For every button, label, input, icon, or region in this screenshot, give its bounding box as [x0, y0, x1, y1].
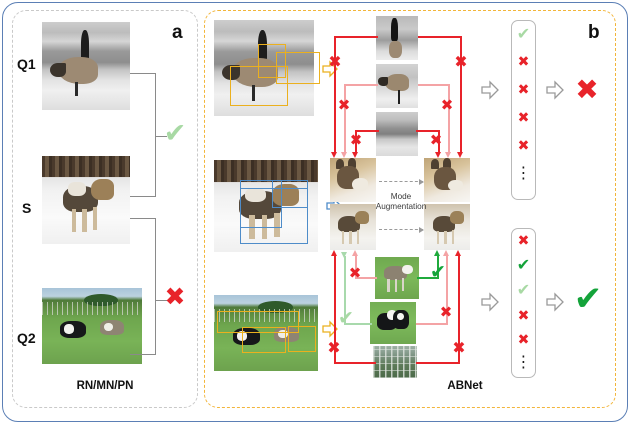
edge-sky-left-arrow: [352, 152, 358, 158]
match-check-bottom-1: ✔: [428, 263, 448, 282]
patch-sky-background: [376, 112, 418, 156]
decision-2-ellipsis: ⋮: [512, 355, 535, 371]
mode-augmentation-line-2: Augmentation: [368, 202, 434, 212]
match-check-bottom-2: ✔: [336, 309, 356, 328]
edge-head-left-arrow: [331, 152, 337, 158]
mode-augmentation-arrow-bottom: [379, 229, 423, 230]
decision-2-item-4: ✖: [512, 309, 535, 323]
row-label-q1: Q1: [17, 56, 36, 72]
decision-1-item-5: ✖: [512, 139, 535, 153]
arrow-list-1-to-result: [546, 80, 564, 100]
match-cross-bottom-4: ✖: [450, 340, 468, 356]
patch-goose-body: [376, 64, 418, 108]
edge-body-left-vert: [344, 84, 346, 154]
decision-2-item-3: ✔: [512, 282, 535, 298]
edge-head-right: [418, 36, 462, 38]
decision-1-ellipsis: ⋮: [512, 166, 535, 182]
arrow-to-list-1: [481, 80, 499, 100]
patch-black-white-dogs: [370, 302, 416, 344]
decision-1-item-2: ✖: [512, 55, 535, 69]
panel-b-source-q2: [214, 295, 318, 371]
match-cross-bottom-1: ✖: [346, 266, 364, 281]
edge-bwdog-right-arrow: [443, 250, 449, 256]
match-cross-top-3: ✖: [335, 98, 353, 113]
decision-1-item-4: ✖: [512, 111, 535, 125]
panel-a-caption: RN/MN/PN: [40, 380, 170, 392]
mode-augmentation-line-1: Mode: [368, 192, 434, 202]
edge-fence-left: [334, 362, 376, 364]
bracket-q1-vert: [155, 73, 156, 136]
edge-body-right-arrow: [445, 152, 451, 158]
edge-bwdog-right: [416, 323, 448, 325]
arrow-list-2-to-result: [546, 292, 564, 312]
edge-greydog-right-arrow: [434, 250, 440, 256]
match-cross-top-4: ✖: [438, 98, 456, 113]
bracket-s-vert-up: [155, 136, 156, 197]
panel-a-image-q2: [42, 288, 142, 364]
panel-a-decision-check: ✔: [160, 120, 190, 147]
bracket-q1-top: [130, 73, 156, 74]
edge-fence-right: [416, 362, 460, 364]
bracket-s-top: [130, 196, 156, 197]
mode-augmentation-label: Mode Augmentation: [368, 192, 434, 211]
patch-fence: [373, 346, 417, 378]
match-cross-top-5: ✖: [347, 133, 365, 148]
decision-1-item-1: ✔: [512, 26, 535, 42]
patch-grey-dog: [375, 257, 419, 299]
bracket-s-bottom: [130, 218, 156, 219]
panel-a-decision-cross: ✖: [160, 284, 190, 309]
match-cross-bottom-3: ✖: [325, 340, 343, 356]
match-cross-bottom-2: ✖: [437, 305, 455, 320]
decision-1-item-3: ✖: [512, 83, 535, 97]
figure-root: a b RN/MN/PN ABNet Q1 S Q2: [0, 0, 632, 426]
result-query-1: ✖: [572, 76, 602, 104]
match-cross-top-6: ✖: [427, 133, 445, 148]
decision-2-item-1: ✖: [512, 234, 535, 248]
edge-head-left: [334, 36, 378, 38]
edge-body-right: [418, 84, 450, 86]
decision-list-query-2[interactable]: ✖ ✔ ✔ ✖ ✖ ⋮: [511, 228, 536, 378]
panel-a-image-s: [42, 156, 130, 244]
panel-a-letter: a: [172, 22, 183, 44]
row-label-s: S: [22, 200, 31, 216]
panel-b-letter: b: [588, 22, 600, 44]
bracket-s-vert-down: [155, 218, 156, 300]
panel-a-image-q1: [42, 22, 130, 110]
edge-body-left-arrow: [341, 152, 347, 158]
bracket-q2-vert: [155, 300, 156, 355]
edge-body-left: [344, 84, 378, 86]
edge-fence-right-arrow: [455, 250, 461, 256]
row-label-q2: Q2: [17, 330, 36, 346]
decision-2-item-5: ✖: [512, 333, 535, 347]
panel-b-source-s: [214, 160, 318, 252]
edge-bwdog-left-arrow: [341, 252, 347, 258]
match-cross-top-2: ✖: [452, 54, 470, 70]
edge-head-right-arrow: [457, 152, 463, 158]
decision-list-query-1[interactable]: ✔ ✖ ✖ ✖ ✖ ⋮: [511, 20, 536, 200]
result-query-2: ✔: [570, 282, 606, 316]
match-cross-top-1: ✖: [326, 54, 344, 70]
mode-augmentation-arrow-top: [379, 181, 423, 182]
bracket-q2-bottom: [130, 354, 156, 355]
edge-fence-left-arrow: [331, 250, 337, 256]
patch-goose-head: [376, 16, 418, 60]
edge-greydog-left-arrow: [352, 250, 358, 256]
arrow-to-list-2: [481, 292, 499, 312]
edge-body-right-vert: [448, 84, 450, 154]
panel-b-source-q1: [214, 20, 314, 116]
decision-2-item-2: ✔: [512, 257, 535, 273]
panel-b-caption: ABNet: [400, 380, 530, 392]
edge-sky-right-arrow: [435, 152, 441, 158]
